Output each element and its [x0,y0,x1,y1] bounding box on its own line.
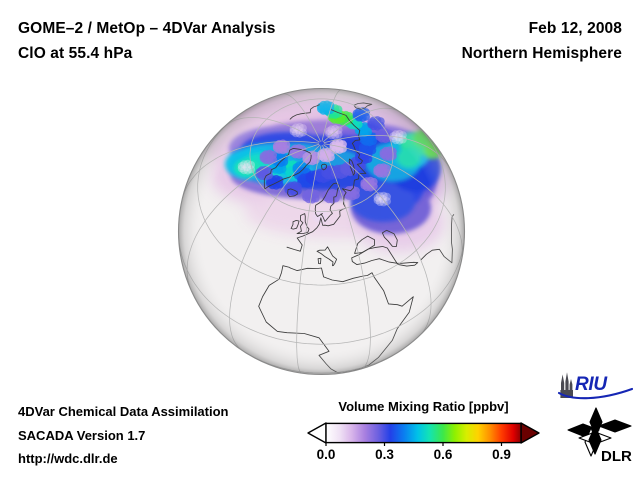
title-date: Feb 12, 2008 [462,16,622,41]
colorbar-arrow-left [308,423,326,443]
colorbar-arrow-right [521,423,539,443]
colorbar-tick-0: 0.0 [317,447,336,462]
credit-url[interactable]: http://wdc.dlr.de [18,447,229,471]
title-hemisphere: Northern Hemisphere [462,41,622,66]
header-left-block: GOME–2 / MetOp – 4DVar Analysis ClO at 5… [18,16,276,66]
colorbar-tick-1: 0.3 [375,447,394,462]
title-instrument-analysis: GOME–2 / MetOp – 4DVar Analysis [18,16,276,41]
colorbar-tick-3: 0.9 [492,447,511,462]
colorbar-swatch [306,420,541,446]
credit-version: SACADA Version 1.7 [18,424,229,448]
dlr-wordmark: DLR [601,448,632,464]
colorbar-gradient-body [326,423,521,442]
header-right-block: Feb 12, 2008 Northern Hemisphere [462,16,622,66]
globe-limb-shading [179,89,465,375]
orthographic-globe [177,72,466,391]
colorbar-tick-2: 0.6 [434,447,453,462]
title-species-level: ClO at 55.4 hPa [18,41,276,66]
colorbar-title: Volume Mixing Ratio [ppbv] [306,399,541,414]
globe-map-panel [177,72,466,391]
colorbar-tick-labels: 0.00.30.60.9 [306,447,541,465]
credit-method: 4DVar Chemical Data Assimilation [18,400,229,424]
riu-logo: RIU [556,370,634,400]
footer-credits-block: 4DVar Chemical Data Assimilation SACADA … [18,400,229,471]
colorbar-block: Volume Mixing Ratio [ppbv] 0.00.30.60.9 [306,399,541,465]
riu-wordmark: RIU [575,374,608,395]
dlr-logo: DLR [565,406,635,464]
